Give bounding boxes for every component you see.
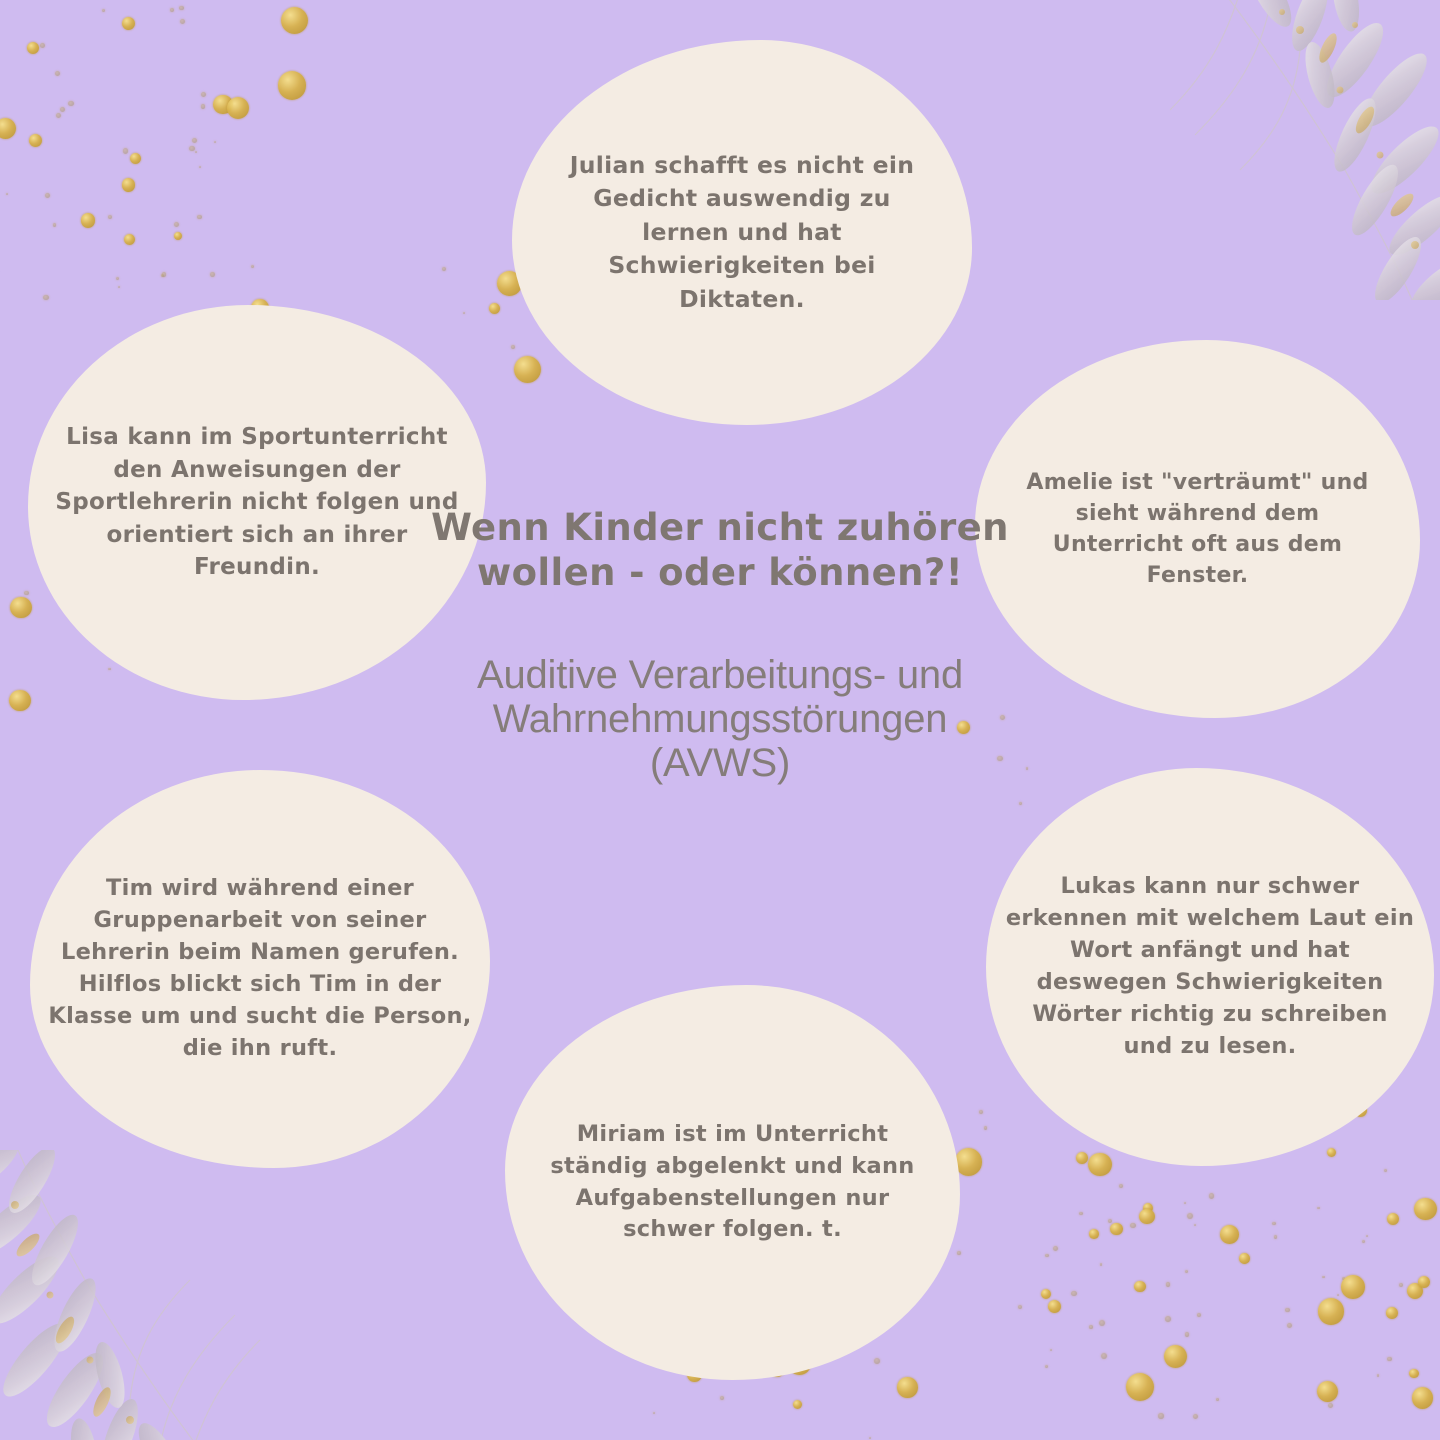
case-text-tim: Tim wird während einer Gruppenarbeit von… — [44, 873, 476, 1065]
page-subtitle: Auditive Verarbeitungs- und Wahrnehmungs… — [430, 653, 1010, 785]
leaf-branch-icon — [0, 1150, 280, 1440]
case-bubble-julian: Julian schafft es nicht ein Gedicht ausw… — [512, 40, 972, 425]
leaf-branch-icon — [1150, 0, 1440, 300]
poster-canvas: Julian schafft es nicht ein Gedicht ausw… — [0, 0, 1440, 1440]
case-text-amelie: Amelie ist "verträumt" und sieht während… — [1009, 467, 1386, 592]
case-text-lukas: Lukas kann nur schwer erkennen mit welch… — [1004, 871, 1416, 1063]
page-title: Wenn Kinder nicht zuhören wollen - oder … — [430, 505, 1010, 595]
case-bubble-miriam: Miriam ist im Unterricht ständig abgelen… — [505, 985, 960, 1380]
case-bubble-lukas: Lukas kann nur schwer erkennen mit welch… — [986, 768, 1434, 1166]
case-text-lisa: Lisa kann im Sportunterricht den Anweisu… — [54, 421, 460, 584]
case-bubble-amelie: Amelie ist "verträumt" und sieht während… — [975, 340, 1420, 718]
case-bubble-lisa: Lisa kann im Sportunterricht den Anweisu… — [28, 305, 486, 700]
case-text-julian: Julian schafft es nicht ein Gedicht ausw… — [548, 149, 936, 316]
case-text-miriam: Miriam ist im Unterricht ständig abgelen… — [535, 1119, 930, 1247]
centre-text-block: Wenn Kinder nicht zuhören wollen - oder … — [430, 505, 1010, 785]
case-bubble-tim: Tim wird während einer Gruppenarbeit von… — [30, 770, 490, 1168]
